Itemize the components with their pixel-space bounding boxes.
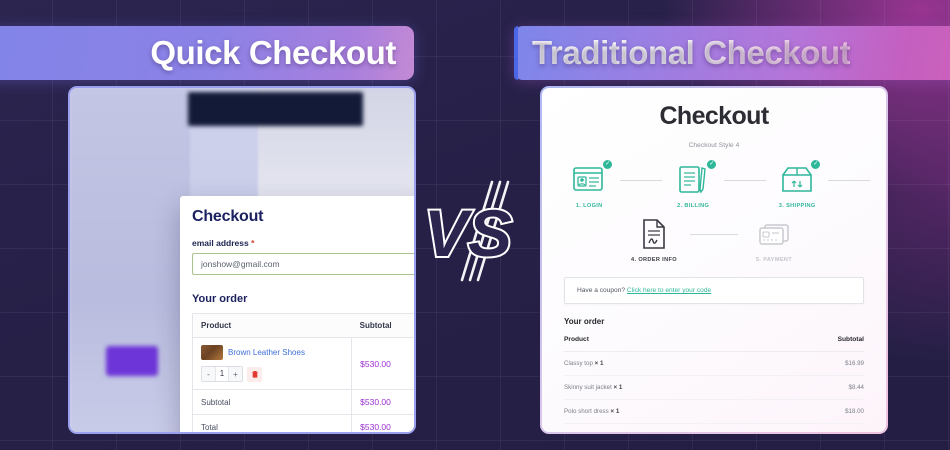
versus-badge: VS [418,180,534,284]
traditional-checkout-banner: Traditional Checkout [514,26,950,80]
step-order-info[interactable]: 4. ORDER INFO [618,217,690,263]
your-order-heading: Your order [192,293,416,305]
product-name: Classy top [564,360,593,367]
traditional-page-title: Checkout [558,102,870,131]
vs-text: VS [424,196,512,270]
traditional-checkout-page: Checkout Checkout Style 4 [542,88,886,432]
stepper-box: - 1 + [201,366,243,382]
email-field-label: email address * [192,238,416,248]
quick-checkout-title: Quick Checkout [150,34,396,72]
product-qty: 1 [616,408,619,415]
traditional-order-table: Product Subtotal Classy top × 1 $16.99 [564,326,864,424]
quantity-decrease-button[interactable]: - [202,367,215,381]
row-subtotal-value: $530.00 [360,359,391,369]
step-payment[interactable]: 5. PAYMENT [738,217,810,263]
credit-card-icon [754,217,794,251]
step-label: 1. LOGIN [576,203,603,209]
product-qty-sep: × [610,408,614,415]
checkout-steps-row-2: 4. ORDER INFO 5. PAYMENT [558,217,870,263]
signed-document-icon [634,217,674,251]
coupon-prompt: Have a coupon? [577,287,625,294]
product-qty-sep: × [614,384,618,391]
product-qty-sep: × [595,360,599,367]
quantity-value[interactable]: 1 [215,367,229,381]
step-connector [620,180,662,181]
quantity-increase-button[interactable]: + [229,367,242,381]
subtotal-cell: $530.00 [352,338,416,390]
step-connector [828,180,870,181]
step-login[interactable]: ✓ 1. LOGIN [558,163,620,209]
product-thumbnail [201,345,223,360]
step-label: 4. ORDER INFO [631,257,677,263]
summary-value-subtotal: $530.00 [352,390,416,415]
row-subtotal: $18.00 [771,400,864,424]
product-name: Skinny suit jacket [564,384,612,391]
step-connector [724,180,766,181]
trash-icon [251,370,259,378]
product-qty: 1 [619,384,622,391]
product-cell: Brown Leather Shoes - 1 + [193,338,352,390]
table-header-row: Product Subtotal [564,326,864,352]
modal-scroll-area[interactable]: Checkout email address * Your order Prod… [180,196,416,434]
background-navbar [188,92,363,126]
email-input[interactable] [192,253,416,275]
table-row: Skinny suit jacket × 1 $8.44 [564,376,864,400]
table-row: Polo short dress × 1 $18.00 [564,400,864,424]
background-left-dim [70,88,190,434]
remove-item-button[interactable] [247,367,262,382]
traditional-order-heading: Your order [564,317,870,326]
box-icon: ✓ [777,163,817,197]
coupon-link[interactable]: Click here to enter your code [627,287,711,294]
product-info: Brown Leather Shoes [201,345,343,360]
table-row: Subtotal $530.00 [193,390,416,415]
table-header-row: Product Subtotal [193,314,416,338]
traditional-checkout-title: Traditional Checkout [532,34,850,72]
quick-checkout-stage: Checkout email address * Your order Prod… [68,86,416,434]
email-label-text: email address [192,238,249,248]
quantity-stepper: - 1 + [201,366,343,382]
table-row: Classy top × 1 $16.99 [564,352,864,376]
background-accent-chip [106,346,158,376]
product-cell: Polo short dress × 1 [564,400,771,424]
quick-checkout-modal: Checkout email address * Your order Prod… [180,196,416,434]
table-row: Total $530.00 [193,415,416,435]
column-header-product: Product [564,326,771,352]
step-connector [690,234,738,235]
column-header-subtotal: Subtotal [771,326,864,352]
step-complete-check-icon: ✓ [707,160,716,169]
column-header-product: Product [193,314,352,338]
step-complete-check-icon: ✓ [603,160,612,169]
quick-checkout-banner: Quick Checkout [0,26,414,80]
traditional-page-subtitle: Checkout Style 4 [558,142,870,149]
coupon-banner: Have a coupon? Click here to enter your … [564,277,864,304]
vs-icon: VS [418,180,534,284]
id-card-icon: ✓ [569,163,609,197]
table-row: Brown Leather Shoes - 1 + [193,338,416,390]
summary-label-total: Total [193,415,352,435]
product-cell: Skinny suit jacket × 1 [564,376,771,400]
row-subtotal: $16.99 [771,352,864,376]
summary-label-subtotal: Subtotal [193,390,352,415]
product-cell: Classy top × 1 [564,352,771,376]
step-shipping[interactable]: ✓ 3. SHIPPING [766,163,828,209]
required-marker: * [251,238,254,248]
step-label: 3. SHIPPING [779,203,816,209]
product-qty: 1 [600,360,603,367]
product-name-link[interactable]: Brown Leather Shoes [228,348,305,357]
order-summary-table: Product Subtotal Brown Leather Shoes [192,313,416,434]
step-complete-check-icon: ✓ [811,160,820,169]
comparison-banner: Quick Checkout Traditional Checkout Chec… [0,0,950,450]
product-name: Polo short dress [564,408,609,415]
traditional-checkout-card: Checkout Checkout Style 4 [540,86,888,434]
step-label: 2. BILLING [677,203,709,209]
column-header-subtotal: Subtotal [352,314,416,338]
checkout-steps-row-1: ✓ 1. LOGIN ✓ [558,163,870,209]
summary-value-total: $530.00 [352,415,416,435]
row-subtotal: $8.44 [771,376,864,400]
step-billing[interactable]: ✓ 2. BILLING [662,163,724,209]
invoice-pen-icon: ✓ [673,163,713,197]
step-label: 5. PAYMENT [756,257,792,263]
modal-title: Checkout [192,208,416,226]
